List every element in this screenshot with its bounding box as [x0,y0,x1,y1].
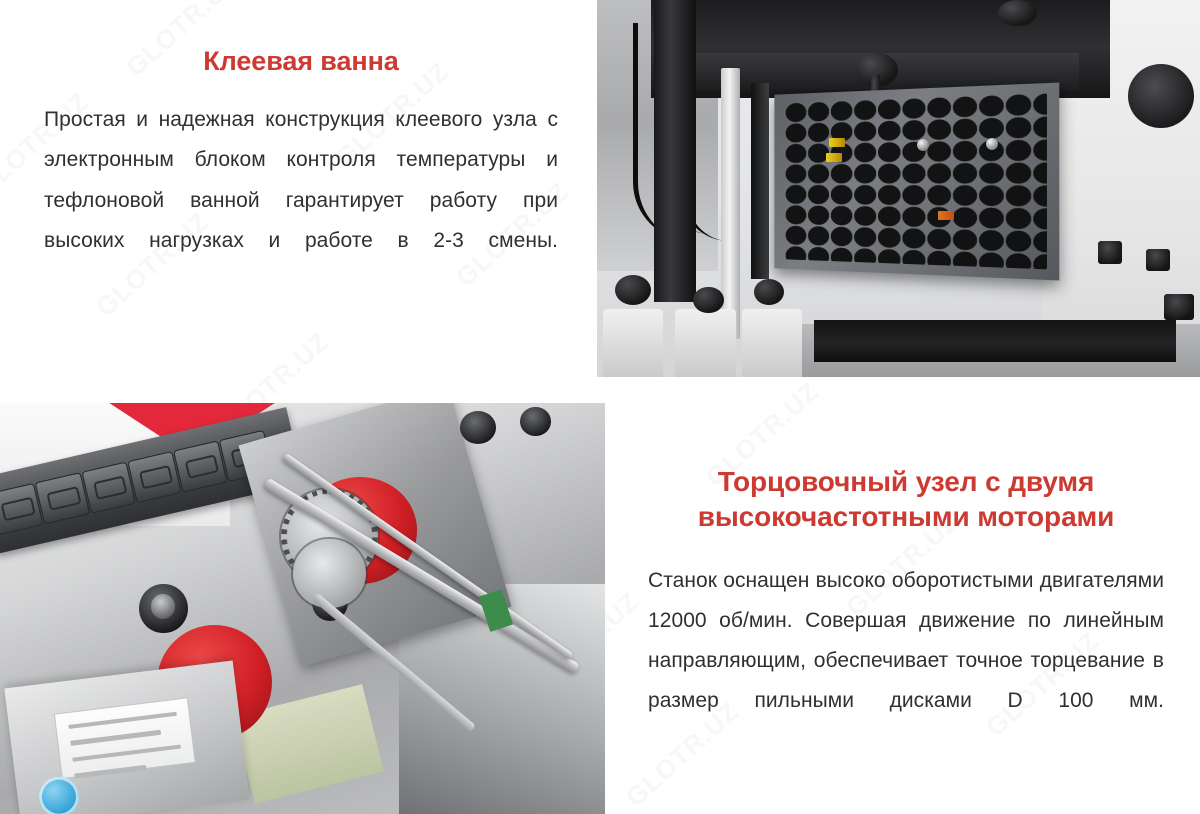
ce-badge-icon [36,775,81,814]
vertical-post [654,0,696,302]
spec-label [54,697,196,779]
pneumatic-valve [603,309,663,377]
chain-link [127,451,181,503]
machine-foot [1164,294,1194,320]
chain-link [35,472,89,524]
valve-fitting [754,279,784,305]
pneumatic-valve [742,309,802,377]
motor-nameplate-box [4,661,249,814]
spec-label-line [68,712,177,730]
glue-bath-photo [597,0,1200,377]
saw-flange-upper [293,539,366,609]
machine-foot [1098,241,1122,264]
valve-fitting [693,287,723,313]
spec-label-line [70,730,161,745]
spec-label-line [74,765,146,778]
perforated-guard-panel [774,82,1059,280]
spec-label-line [72,744,181,762]
glue-bath-text-block: Клеевая ванна Простая и надежная констру… [44,44,558,302]
bolt-head [520,407,550,436]
guard-screw [986,138,998,150]
motor-housing [1128,64,1194,128]
warning-sticker-yellow [829,138,845,147]
pivot-bearing-inner [151,594,175,619]
trim-unit-heading: Торцовочный узел с двумя высокочастотным… [648,464,1164,535]
guard-panel-edge [751,83,769,279]
warning-sticker-yellow [826,153,842,162]
machine-foot [1146,249,1170,272]
conveyor-rail [814,320,1176,361]
glue-bath-description: Простая и надежная конструкция клеевого … [44,100,558,302]
bolt-head [460,411,496,444]
trim-unit-photo [0,403,605,814]
trim-unit-description: Станок оснащен высоко оборотистыми двига… [648,561,1164,763]
chain-link [173,440,227,492]
feature-page: GLOTR.UZ GLOTR.UZ GLOTR.UZ GLOTR.UZ GLOT… [0,0,1200,814]
pneumatic-valve [675,309,735,377]
chain-link [81,462,135,514]
glue-bath-heading: Клеевая ванна [44,44,558,78]
trim-unit-text-block: Торцовочный узел с двумя высокочастотным… [648,464,1164,762]
warning-sticker-orange [938,211,954,220]
